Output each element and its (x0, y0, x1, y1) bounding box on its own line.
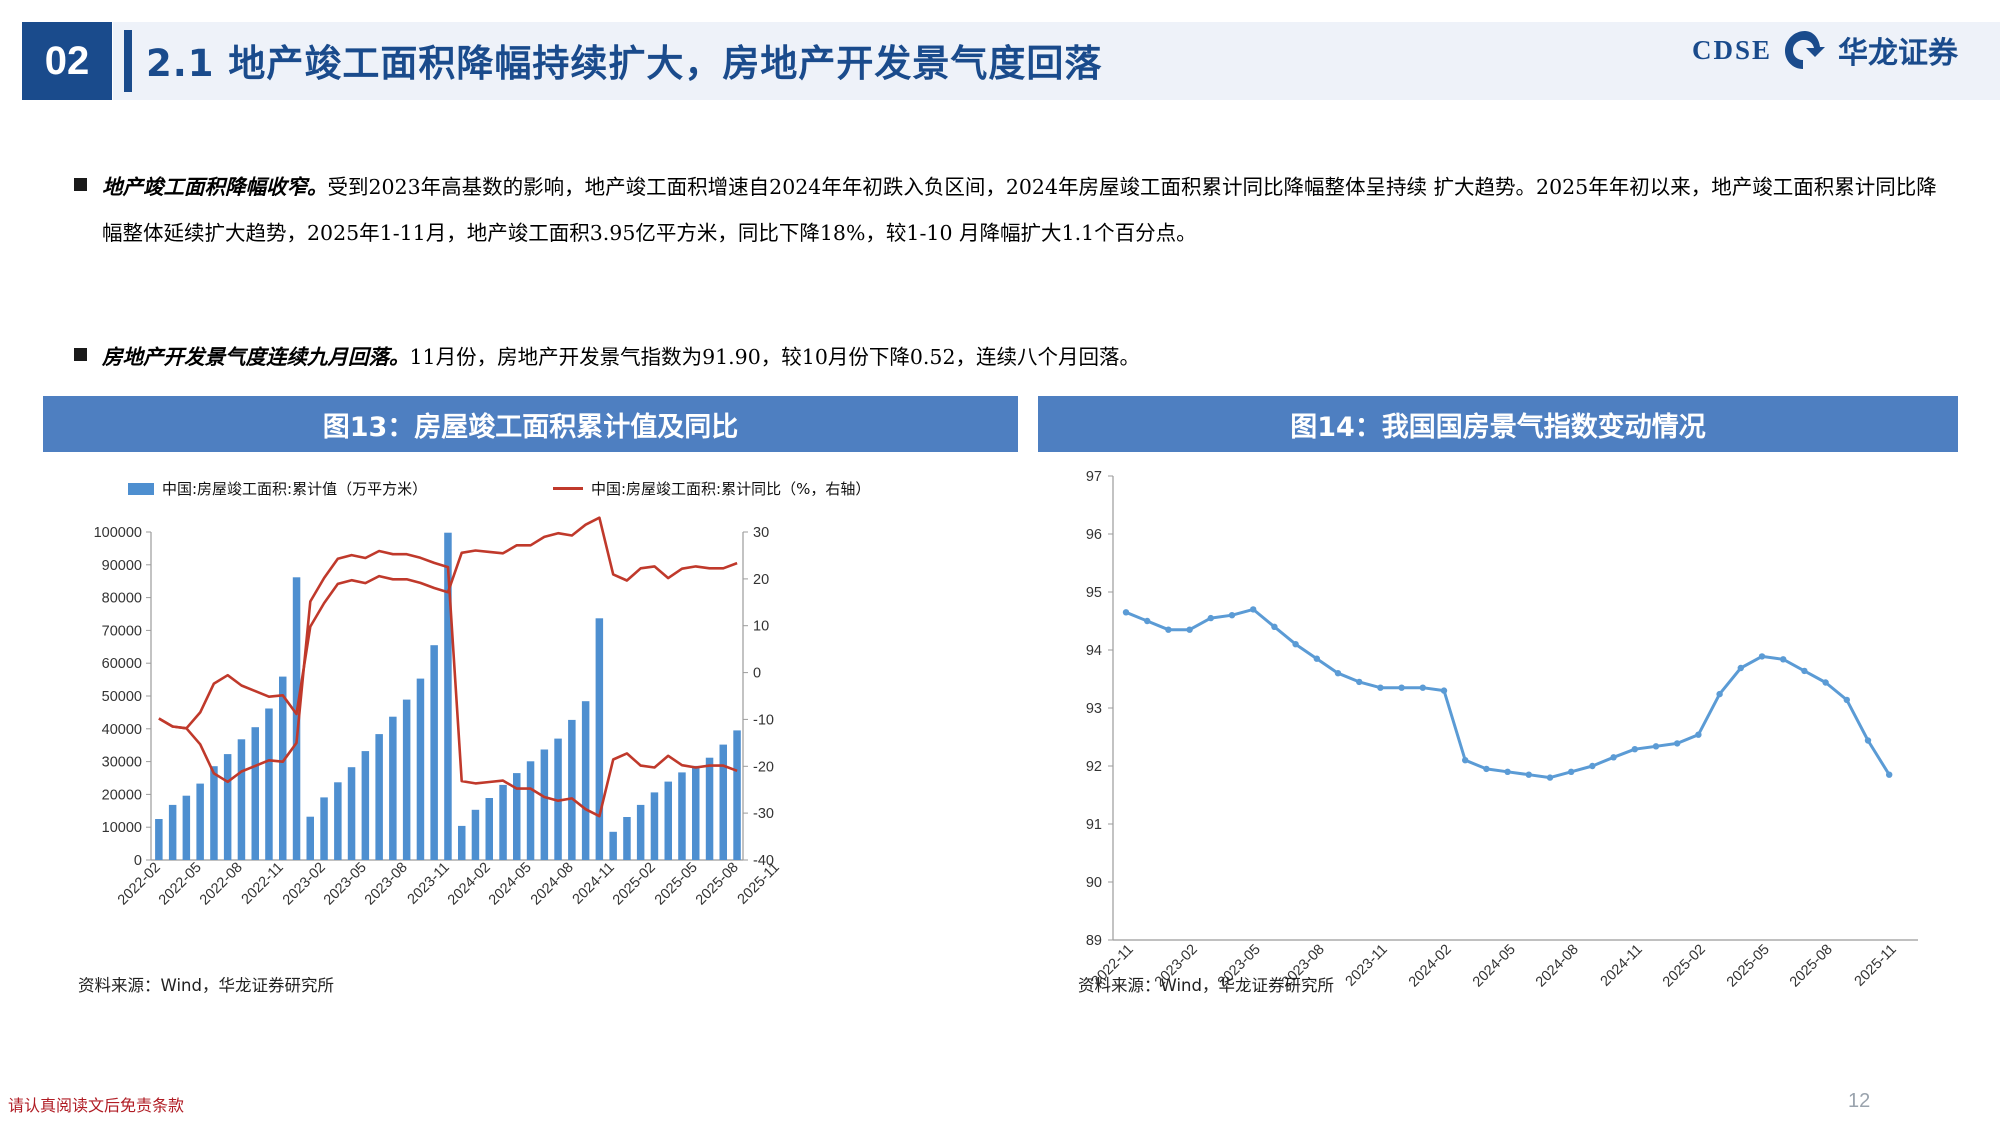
slide-header: 02 2.1 地产竣工面积降幅持续扩大，房地产开发景气度回落 CDSE 华龙证券 (0, 0, 2000, 120)
svg-text:2025-05: 2025-05 (1724, 942, 1773, 991)
svg-text:2024-11: 2024-11 (1598, 942, 1646, 990)
svg-text:2024-11: 2024-11 (570, 860, 618, 908)
svg-text:30000: 30000 (102, 755, 142, 771)
svg-text:10: 10 (753, 619, 769, 635)
figure-13-source: 资料来源：Wind，华龙证券研究所 (78, 972, 334, 996)
bullet-marker-1 (74, 178, 87, 191)
svg-text:2025-08: 2025-08 (1787, 942, 1836, 991)
page-number: 12 (1848, 1090, 1870, 1113)
svg-text:-30: -30 (753, 806, 774, 822)
svg-text:94: 94 (1086, 643, 1102, 659)
svg-text:2025-11: 2025-11 (1852, 942, 1900, 990)
svg-text:96: 96 (1086, 527, 1102, 543)
bullet-marker-2 (74, 348, 87, 361)
svg-text:2025-05: 2025-05 (652, 860, 701, 909)
paragraph-2-lead: 房地产开发景气度连续九月回落。 (102, 345, 410, 369)
svg-text:-20: -20 (753, 759, 774, 775)
paragraph-2-rest: 11月份，房地产开发景气指数为91.90，较10月份下降0.52，连续八个月回落… (410, 345, 1141, 369)
legend-label-bar: 中国:房屋竣工面积:累计值（万平方米） (162, 478, 427, 499)
figure-13-plot: 0 10000 20000 30000 40000 50000 60000 70… (43, 460, 1018, 1020)
svg-text:92: 92 (1086, 759, 1102, 775)
svg-text:95: 95 (1086, 585, 1102, 601)
company-logo: CDSE 华龙证券 (1692, 28, 1958, 72)
svg-text:20000: 20000 (102, 787, 142, 803)
svg-text:2022-08: 2022-08 (197, 860, 246, 909)
svg-text:0: 0 (134, 853, 142, 869)
svg-text:20: 20 (753, 572, 769, 588)
svg-text:2024-08: 2024-08 (1533, 942, 1582, 991)
svg-text:10000: 10000 (102, 820, 142, 836)
svg-text:50000: 50000 (102, 689, 142, 705)
svg-text:70000: 70000 (102, 623, 142, 639)
svg-text:93: 93 (1086, 701, 1102, 717)
legend-swatch-bar (128, 483, 154, 495)
svg-text:2022-11: 2022-11 (239, 860, 287, 908)
paragraph-1-rest-3: 月降幅扩大1.1个百分点。 (959, 221, 1197, 245)
slide-page: 02 2.1 地产竣工面积降幅持续扩大，房地产开发景气度回落 CDSE 华龙证券… (0, 0, 2000, 1125)
svg-text:89: 89 (1086, 933, 1102, 949)
figure-14-chart: 89 90 91 92 93 94 95 96 97 (1038, 460, 1958, 1020)
svg-text:90000: 90000 (102, 558, 142, 574)
paragraph-1: 地产竣工面积降幅收窄。受到2023年高基数的影响，地产竣工面积增速自2024年年… (102, 164, 1952, 256)
svg-text:2025-02: 2025-02 (610, 860, 659, 909)
slide-footer (0, 1078, 2000, 1125)
svg-text:40000: 40000 (102, 722, 142, 738)
logo-cn-text: 华龙证券 (1838, 28, 1958, 72)
svg-text:2024-08: 2024-08 (528, 860, 577, 909)
svg-text:2023-11: 2023-11 (1343, 942, 1391, 990)
svg-text:100000: 100000 (94, 525, 142, 541)
paragraph-2: 房地产开发景气度连续九月回落。11月份，房地产开发景气指数为91.90，较10月… (102, 334, 1952, 380)
page-title: 2.1 地产竣工面积降幅持续扩大，房地产开发景气度回落 (146, 33, 1102, 87)
svg-text:2022-05: 2022-05 (156, 860, 205, 909)
svg-text:-10: -10 (753, 712, 774, 728)
svg-text:2025-02: 2025-02 (1660, 942, 1709, 991)
svg-text:91: 91 (1086, 817, 1102, 833)
svg-text:80000: 80000 (102, 591, 142, 607)
figure-13-title: 图13：房屋竣工面积累计值及同比 (43, 396, 1018, 452)
figure-14-title: 图14：我国国房景气指数变动情况 (1038, 396, 1958, 452)
legend-label-line: 中国:房屋竣工面积:累计同比（%，右轴） (591, 478, 870, 499)
svg-text:0: 0 (753, 666, 761, 682)
figure-14-source: 资料来源：Wind，华龙证券研究所 (1078, 972, 1334, 996)
svg-text:2023-11: 2023-11 (405, 860, 453, 908)
svg-text:2024-02: 2024-02 (1406, 942, 1455, 991)
logo-latin-text: CDSE (1692, 35, 1772, 66)
header-accent-bar (124, 30, 132, 92)
figure-14-plot: 89 90 91 92 93 94 95 96 97 (1038, 460, 1958, 1020)
svg-text:60000: 60000 (102, 656, 142, 672)
footer-disclaimer: 请认真阅读文后免责条款 (8, 1092, 184, 1116)
svg-text:90: 90 (1086, 875, 1102, 891)
logo-mark-icon (1782, 29, 1828, 71)
svg-text:2024-02: 2024-02 (445, 860, 494, 909)
paragraph-1-rest-1: 受到2023年高基数的影响，地产竣工面积增速自2024年年初跌入负区间，2024… (328, 175, 1428, 199)
figure-13-chart: 中国:房屋竣工面积:累计值（万平方米） 中国:房屋竣工面积:累计同比（%，右轴） (43, 460, 1018, 1020)
paragraph-1-lead: 地产竣工面积降幅收窄。 (102, 175, 328, 199)
legend-item-bar: 中国:房屋竣工面积:累计值（万平方米） (128, 478, 427, 499)
svg-text:2024-05: 2024-05 (1470, 942, 1519, 991)
legend-item-line: 中国:房屋竣工面积:累计同比（%，右轴） (553, 478, 870, 499)
svg-text:2024-05: 2024-05 (486, 860, 535, 909)
section-number: 02 (22, 22, 112, 100)
svg-text:2023-08: 2023-08 (362, 860, 411, 909)
svg-text:30: 30 (753, 525, 769, 541)
svg-text:2023-05: 2023-05 (321, 860, 370, 909)
svg-text:2025-08: 2025-08 (693, 860, 742, 909)
svg-text:97: 97 (1086, 469, 1102, 485)
legend-swatch-line (553, 487, 583, 490)
